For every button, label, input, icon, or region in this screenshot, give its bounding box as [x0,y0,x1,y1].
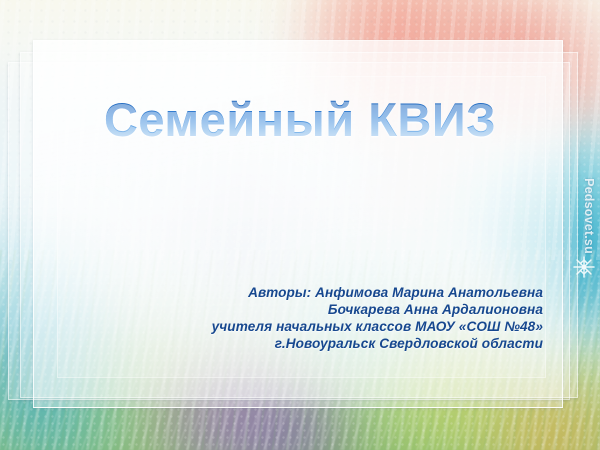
author-line-3: учителя начальных классов МАОУ «СОШ №48» [123,318,543,335]
authors-block: Авторы: Анфимова Марина Анатольевна Бочк… [123,284,543,352]
author-line-2: Бочкарева Анна Ардалионовна [123,301,543,318]
watermark-text: Pedsovet.su [582,178,596,254]
author-line-1: Авторы: Анфимова Марина Анатольевна [123,284,543,301]
author-line-4: г.Новоуральск Свердловской области [123,335,543,352]
snowflake-icon [572,255,596,279]
slide-title: Семейный КВИЗ [0,96,600,143]
presentation-slide: Семейный КВИЗ Авторы: Анфимова Марина Ан… [0,0,600,450]
watermark: Pedsovet.su [580,168,598,264]
